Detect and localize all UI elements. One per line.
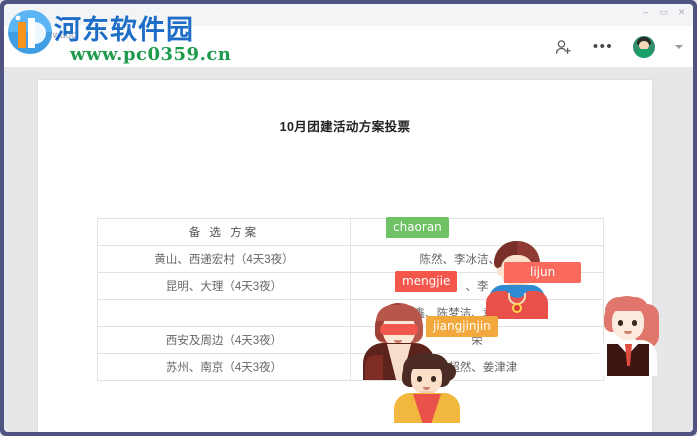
- cursor-label-jiangjinjin: jiangjinjin: [426, 316, 498, 337]
- document-scroll-area[interactable]: 10月团建活动方案投票 备 选 方案 黄山、西递宏村（4天3夜） 陈然、李冰洁、…: [4, 68, 693, 432]
- close-icon[interactable]: ✕: [676, 7, 687, 18]
- maximize-icon[interactable]: ▭: [658, 7, 669, 18]
- cursor-label-lijun: lijun: [504, 262, 581, 283]
- avatar[interactable]: [633, 36, 655, 58]
- chevron-down-icon[interactable]: [675, 45, 683, 49]
- cell-option[interactable]: 西安及周边（4天3夜）: [98, 327, 351, 354]
- collaborator-avatar-lijun: [595, 296, 661, 376]
- cursor-label-chaoran: chaoran: [386, 217, 449, 238]
- cursor-label-mengjie: mengjie: [395, 271, 457, 292]
- minimize-icon[interactable]: –: [640, 7, 651, 18]
- window-inner: – ▭ ✕ •••: [4, 4, 693, 432]
- table-row[interactable]: 西安及周边（4天3夜） 荣: [98, 327, 604, 354]
- toolbar-actions: •••: [553, 26, 683, 68]
- cell-option[interactable]: 昆明、大理（4天3夜）: [98, 273, 351, 300]
- cell-option[interactable]: [98, 300, 351, 327]
- cell-option[interactable]: 苏州、南京（4天3夜）: [98, 354, 351, 381]
- title-bar: – ▭ ✕: [4, 4, 693, 26]
- more-options-icon[interactable]: •••: [593, 37, 613, 57]
- toolbar: •••: [4, 26, 693, 68]
- window-controls[interactable]: – ▭ ✕: [640, 7, 687, 18]
- page-title: 10月团建活动方案投票: [38, 116, 652, 135]
- document-page[interactable]: 10月团建活动方案投票 备 选 方案 黄山、西递宏村（4天3夜） 陈然、李冰洁、…: [38, 80, 652, 432]
- app-window: – ▭ ✕ •••: [0, 0, 697, 436]
- table-row[interactable]: 苏州、南京（4天3夜） 邓超然、姜津津: [98, 354, 604, 381]
- add-collaborator-icon[interactable]: [553, 37, 573, 57]
- collaborator-avatar-jiangjinjin: [393, 353, 461, 423]
- cell-option[interactable]: 黄山、西递宏村（4天3夜）: [98, 246, 351, 273]
- column-header-option: 备 选 方案: [98, 219, 351, 246]
